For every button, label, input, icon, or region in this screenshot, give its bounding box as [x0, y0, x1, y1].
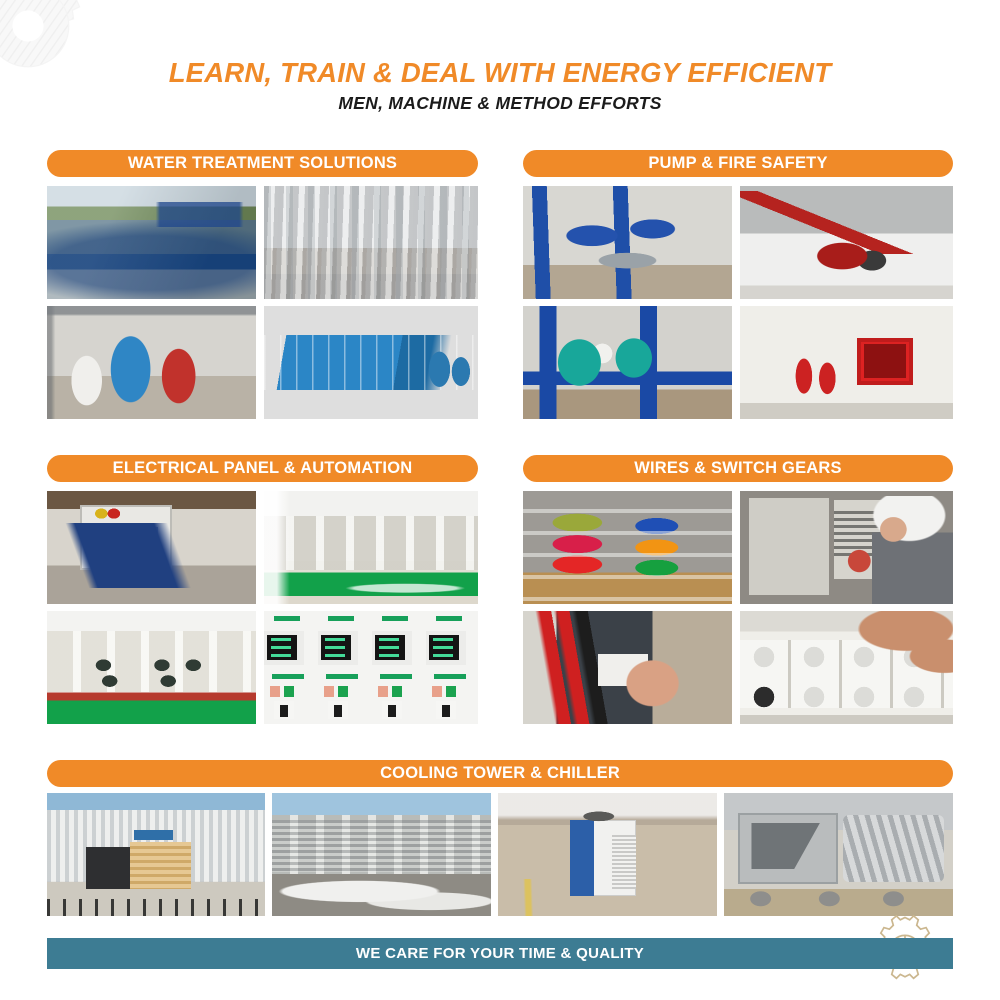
photo-red-fire-sprinkler-main	[740, 186, 953, 299]
section-header-electrical-panel-automation[interactable]: ELECTRICAL PANEL & AUTOMATION	[47, 455, 478, 482]
photo-technician-testing-db	[740, 491, 953, 604]
section-title-label: PUMP & FIRE SAFETY	[648, 154, 827, 173]
photo-lt-panel-lineup	[47, 611, 256, 724]
photo-cooling-tower-bank-piping	[272, 793, 491, 916]
page-title: LEARN, TRAIN & DEAL WITH ENERGY EFFICIEN…	[0, 58, 1000, 89]
photo-clarifier-tank-outdoor	[47, 186, 256, 299]
section-title-label: WIRES & SWITCH GEARS	[634, 459, 842, 478]
section-title-label: COOLING TOWER & CHILLER	[380, 764, 620, 783]
page-subtitle: MEN, MACHINE & METHOD EFFORTS	[0, 93, 1000, 114]
photo-blue-valve-pump-manifold	[523, 186, 732, 299]
photo-pressure-vessel-pump-room	[47, 306, 256, 419]
section-header-cooling-tower-chiller[interactable]: COOLING TOWER & CHILLER	[47, 760, 953, 787]
photo-fpr-cooling-tower-roof	[47, 793, 265, 916]
photo-packaged-air-cooled-chiller	[498, 793, 717, 916]
photo-cable-spools-colored	[523, 491, 732, 604]
photo-wall-switch-sockets	[740, 611, 953, 724]
poster-canvas: LEARN, TRAIN & DEAL WITH ENERGY EFFICIEN…	[0, 0, 1000, 1000]
photo-packaged-etp-unit	[264, 306, 478, 419]
section-header-water-treatment-solutions[interactable]: WATER TREATMENT SOLUTIONS	[47, 150, 478, 177]
photo-chiller-skid-outdoor	[724, 793, 953, 916]
photo-multifunction-meters-panel	[264, 611, 478, 724]
photo-switchgear-room-green-floor	[264, 491, 478, 604]
photo-ro-plant-stainless-piping	[264, 186, 478, 299]
footer-banner: WE CARE FOR YOUR TIME & QUALITY	[47, 938, 953, 969]
photo-green-inline-pumps	[523, 306, 732, 419]
photo-hmi-touch-panel-operator	[47, 491, 256, 604]
section-title-label: ELECTRICAL PANEL & AUTOMATION	[113, 459, 413, 478]
section-title-label: WATER TREATMENT SOLUTIONS	[128, 154, 397, 173]
section-header-pump-fire-safety[interactable]: PUMP & FIRE SAFETY	[523, 150, 953, 177]
photo-fire-extinguishers-hose-reel	[740, 306, 953, 419]
footer-tagline: WE CARE FOR YOUR TIME & QUALITY	[356, 945, 644, 962]
section-header-wires-switch-gears[interactable]: WIRES & SWITCH GEARS	[523, 455, 953, 482]
photo-hand-installing-mcb	[523, 611, 732, 724]
poster-header: LEARN, TRAIN & DEAL WITH ENERGY EFFICIEN…	[0, 58, 1000, 114]
